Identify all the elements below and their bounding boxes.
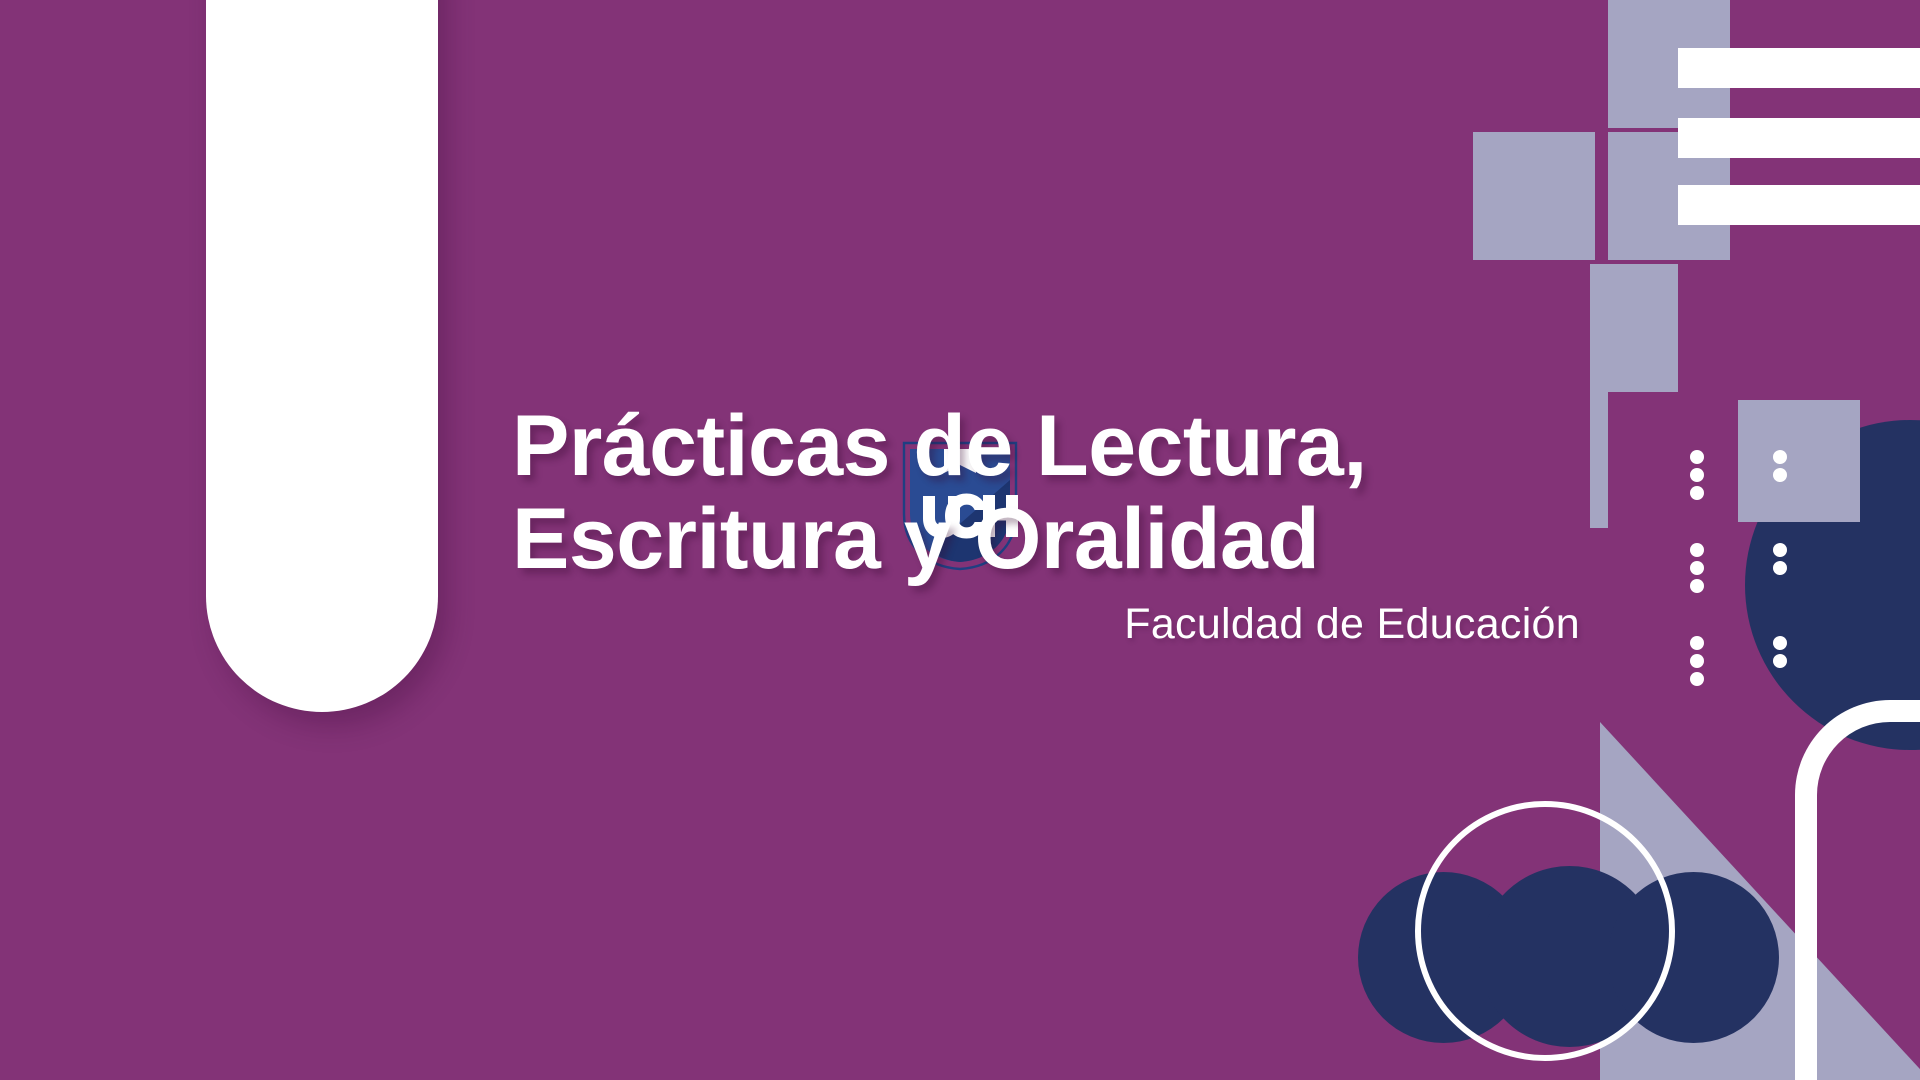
dot <box>1690 543 1704 557</box>
white-circle-outline <box>1415 801 1675 1061</box>
grid-square-gray-5 <box>1590 264 1678 392</box>
dot <box>1773 543 1787 557</box>
dot <box>1773 468 1787 482</box>
grid-bar-white-1 <box>1678 48 1920 88</box>
dot-grid-pattern <box>1690 450 1920 729</box>
dot <box>1773 450 1787 464</box>
dot <box>1773 654 1787 668</box>
grid-bar-white-3 <box>1678 185 1920 225</box>
dot <box>1773 636 1787 650</box>
dot <box>1690 654 1704 668</box>
dot <box>1690 636 1704 650</box>
dot <box>1690 450 1704 464</box>
dot <box>1690 561 1704 575</box>
slide-canvas: Prácticas de Lectura, Escritura y Oralid… <box>0 0 1920 1080</box>
white-rounded-stroke <box>1795 700 1920 1080</box>
title-block: Prácticas de Lectura, Escritura y Oralid… <box>512 400 1612 649</box>
page-title: Prácticas de Lectura, Escritura y Oralid… <box>512 400 1612 586</box>
grid-square-gray-2 <box>1473 132 1595 260</box>
grid-bar-white-2 <box>1678 118 1920 158</box>
page-subtitle: Faculdad de Educación <box>512 600 1612 649</box>
dot <box>1690 486 1704 500</box>
dot <box>1773 561 1787 575</box>
logo-panel <box>206 0 438 712</box>
dot <box>1690 672 1704 686</box>
dot <box>1690 579 1704 593</box>
dot <box>1690 468 1704 482</box>
